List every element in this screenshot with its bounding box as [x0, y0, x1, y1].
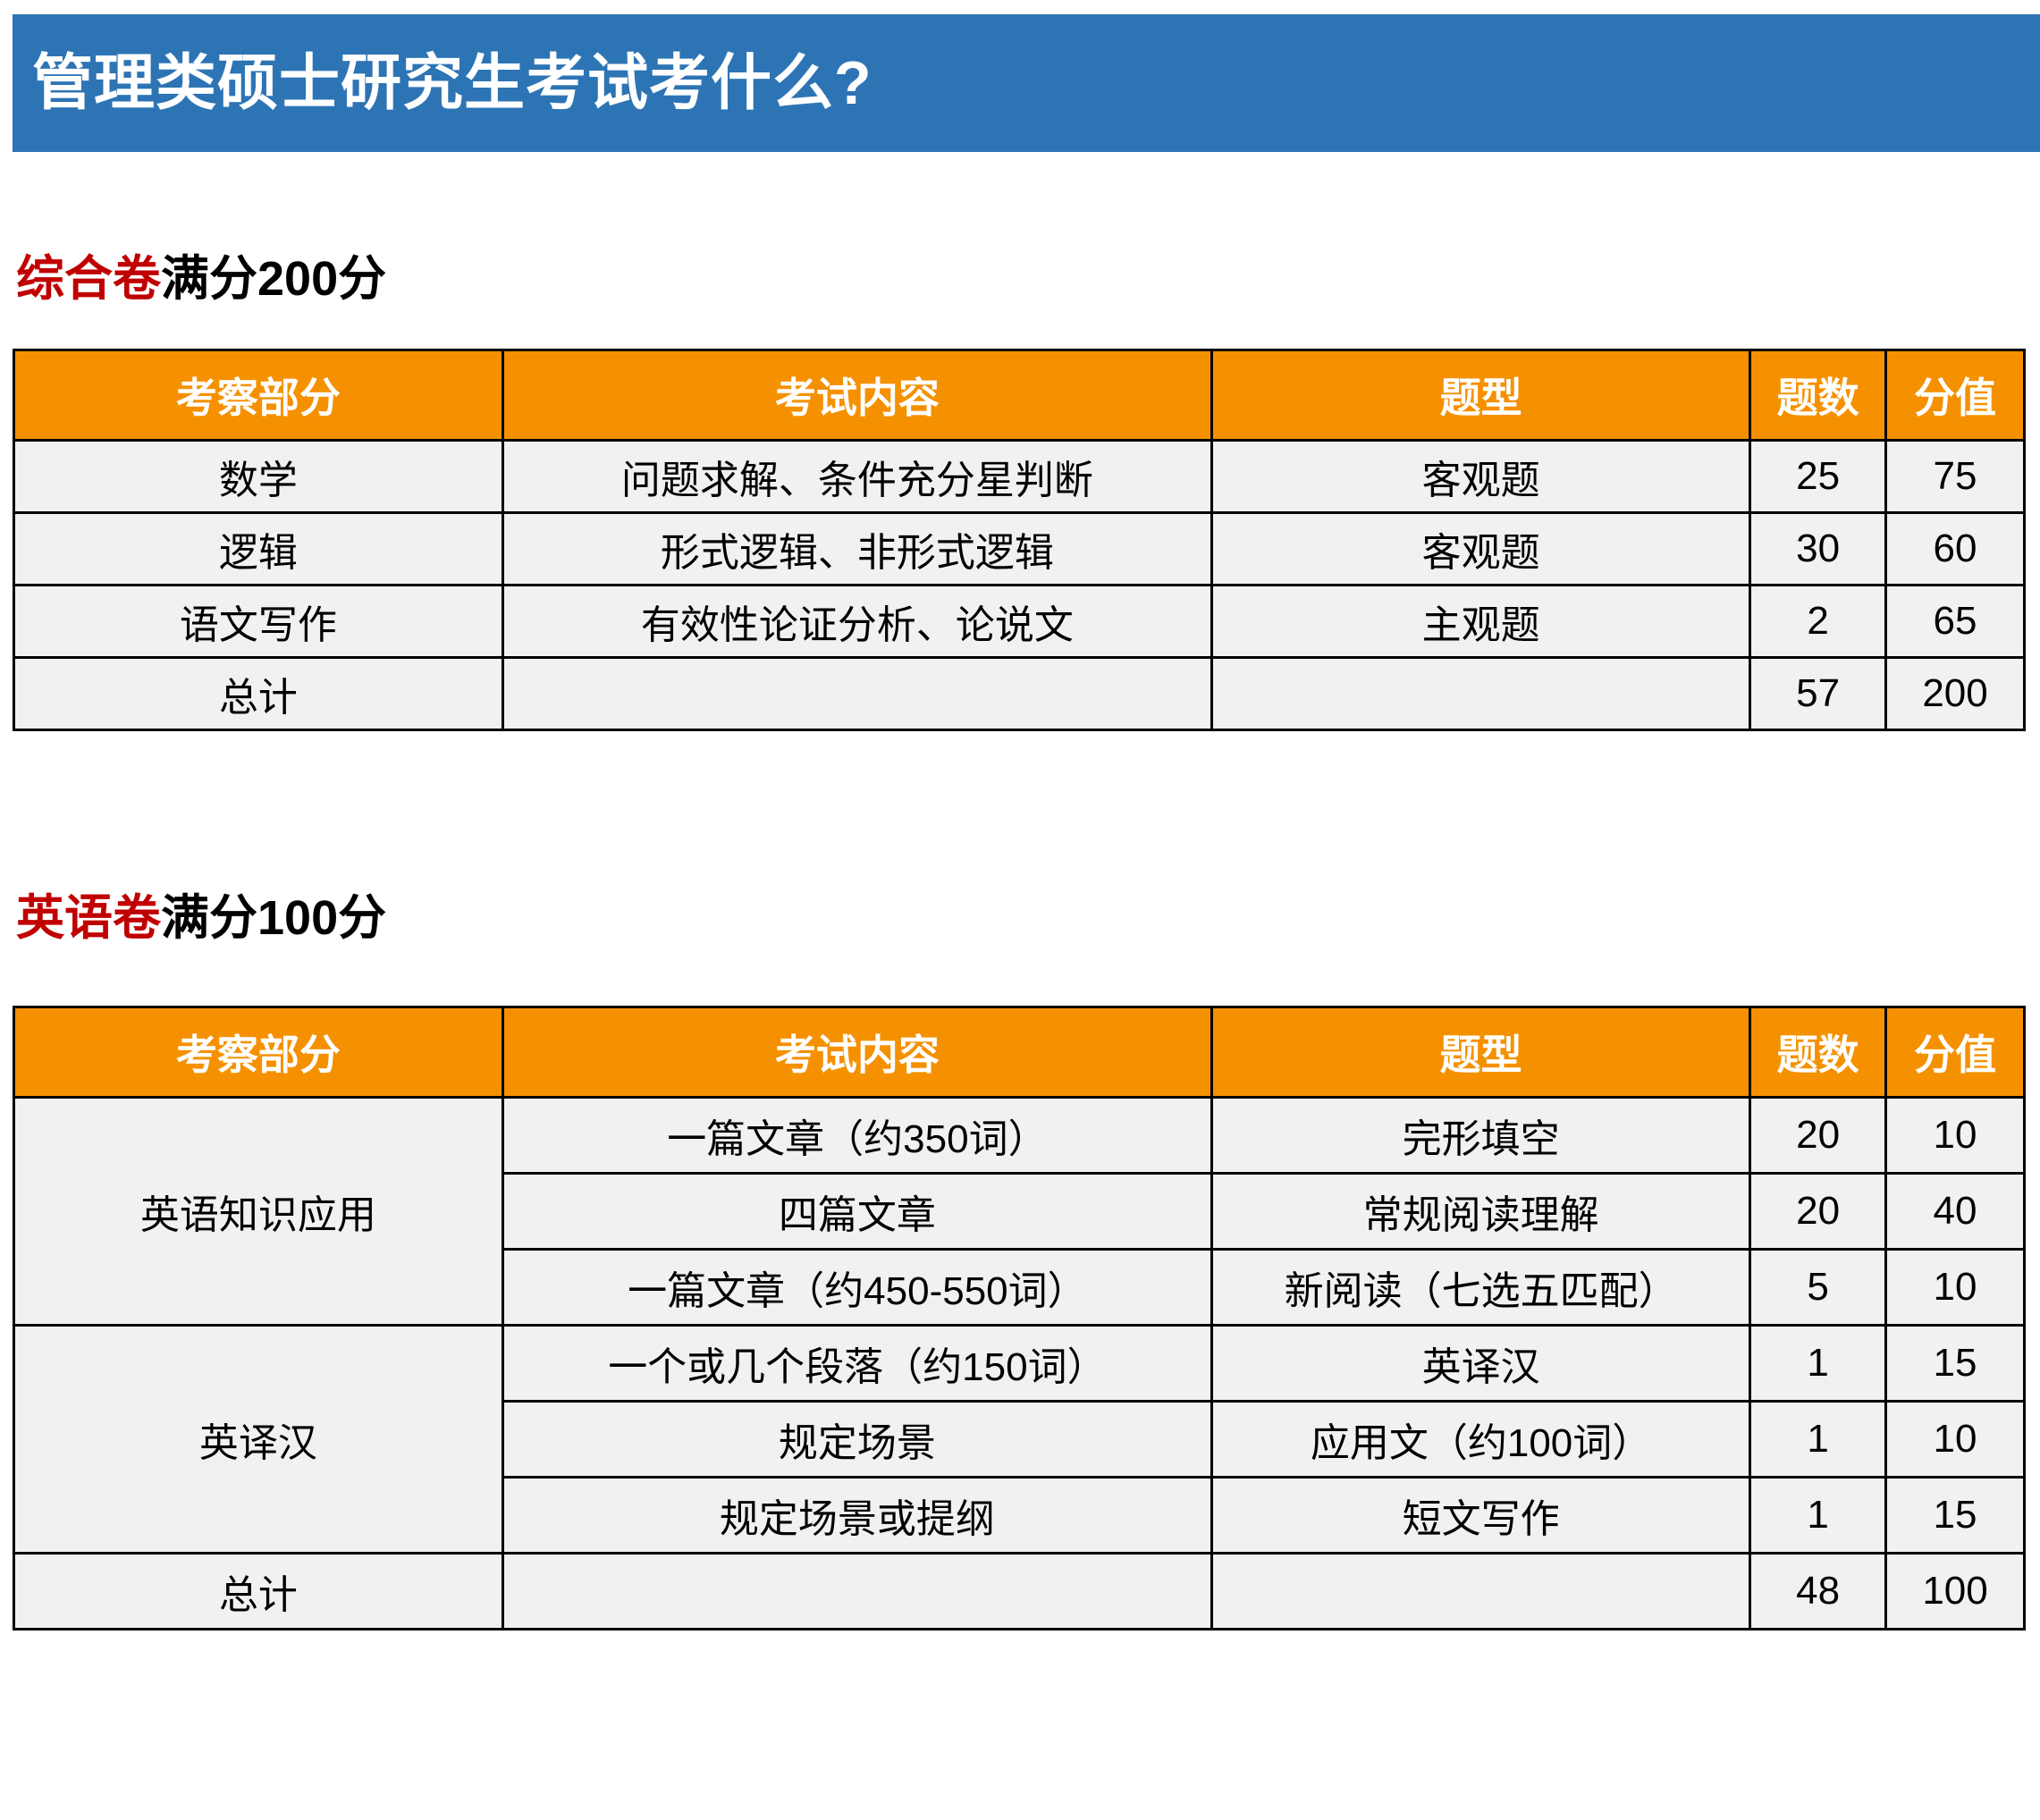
column-header-part: 考察部分 [14, 350, 503, 441]
slide-page: 管理类硕士研究生考试考什么? 综合卷满分200分 考察部分 考试内容 题型 题数… [0, 0, 2040, 1820]
cell-count: 2 [1750, 586, 1886, 658]
cell-content: 有效性论证分析、论说文 [502, 586, 1211, 658]
cell-part: 总计 [14, 658, 503, 730]
cell-content: 问题求解、条件充分星判断 [502, 441, 1211, 513]
cell-count: 20 [1750, 1098, 1886, 1174]
column-header-type: 题型 [1211, 350, 1749, 441]
cell-part: 数学 [14, 441, 503, 513]
section-heading-rest: 满分100分 [161, 891, 386, 945]
cell-type: 主观题 [1211, 586, 1749, 658]
cell-content: 一篇文章（约350词） [502, 1098, 1211, 1174]
section-heading-highlight: 综合卷 [16, 252, 161, 306]
cell-count: 5 [1750, 1250, 1886, 1326]
column-header-content: 考试内容 [502, 1007, 1211, 1098]
cell-count: 25 [1750, 441, 1886, 513]
cell-count: 1 [1750, 1326, 1886, 1402]
cell-count: 1 [1750, 1402, 1886, 1478]
cell-count: 1 [1750, 1478, 1886, 1554]
column-header-content: 考试内容 [502, 350, 1211, 441]
column-header-score: 分值 [1886, 1007, 2025, 1098]
table-row: 英译汉 一个或几个段落（约150词） 英译汉 1 15 [14, 1326, 2025, 1402]
column-header-count: 题数 [1750, 350, 1886, 441]
cell-content [502, 1554, 1211, 1630]
cell-part: 语文写作 [14, 586, 503, 658]
table-header-row: 考察部分 考试内容 题型 题数 分值 [14, 350, 2025, 441]
cell-content: 规定场景 [502, 1402, 1211, 1478]
cell-part-group: 英译汉 [14, 1326, 503, 1554]
page-title: 管理类硕士研究生考试考什么? [13, 53, 872, 114]
column-header-score: 分值 [1886, 350, 2025, 441]
cell-score: 15 [1886, 1326, 2025, 1402]
table-row: 语文写作 有效性论证分析、论说文 主观题 2 65 [14, 586, 2025, 658]
cell-content: 一个或几个段落（约150词） [502, 1326, 1211, 1402]
cell-content [502, 658, 1211, 730]
section-heading-rest: 满分200分 [161, 252, 386, 306]
cell-type: 应用文（约100词） [1211, 1402, 1749, 1478]
table-total-row: 总计 48 100 [14, 1554, 2025, 1630]
cell-score: 100 [1886, 1554, 2025, 1630]
cell-part-group: 英语知识应用 [14, 1098, 503, 1326]
section-heading-comprehensive: 综合卷满分200分 [16, 255, 386, 303]
cell-part: 总计 [14, 1554, 503, 1630]
table-header-row: 考察部分 考试内容 题型 题数 分值 [14, 1007, 2025, 1098]
cell-type: 短文写作 [1211, 1478, 1749, 1554]
comprehensive-exam-table: 考察部分 考试内容 题型 题数 分值 数学 问题求解、条件充分星判断 客观题 2… [13, 349, 2026, 731]
cell-content: 四篇文章 [502, 1174, 1211, 1250]
cell-type [1211, 1554, 1749, 1630]
cell-score: 40 [1886, 1174, 2025, 1250]
section-heading-highlight: 英语卷 [16, 891, 161, 945]
cell-score: 200 [1886, 658, 2025, 730]
table-total-row: 总计 57 200 [14, 658, 2025, 730]
cell-type: 英译汉 [1211, 1326, 1749, 1402]
cell-part: 逻辑 [14, 513, 503, 586]
column-header-type: 题型 [1211, 1007, 1749, 1098]
cell-type: 完形填空 [1211, 1098, 1749, 1174]
column-header-part: 考察部分 [14, 1007, 503, 1098]
cell-content: 形式逻辑、非形式逻辑 [502, 513, 1211, 586]
table-row: 数学 问题求解、条件充分星判断 客观题 25 75 [14, 441, 2025, 513]
cell-type: 新阅读（七选五匹配） [1211, 1250, 1749, 1326]
cell-count: 30 [1750, 513, 1886, 586]
english-exam-table: 考察部分 考试内容 题型 题数 分值 英语知识应用 一篇文章（约350词） 完形… [13, 1006, 2026, 1630]
column-header-count: 题数 [1750, 1007, 1886, 1098]
cell-content: 一篇文章（约450-550词） [502, 1250, 1211, 1326]
cell-score: 60 [1886, 513, 2025, 586]
cell-type: 客观题 [1211, 513, 1749, 586]
table-row: 逻辑 形式逻辑、非形式逻辑 客观题 30 60 [14, 513, 2025, 586]
cell-content: 规定场景或提纲 [502, 1478, 1211, 1554]
cell-type [1211, 658, 1749, 730]
cell-type: 常规阅读理解 [1211, 1174, 1749, 1250]
cell-score: 10 [1886, 1250, 2025, 1326]
cell-score: 15 [1886, 1478, 2025, 1554]
table-row: 英语知识应用 一篇文章（约350词） 完形填空 20 10 [14, 1098, 2025, 1174]
cell-score: 75 [1886, 441, 2025, 513]
title-banner: 管理类硕士研究生考试考什么? [13, 14, 2040, 152]
cell-score: 10 [1886, 1098, 2025, 1174]
cell-score: 65 [1886, 586, 2025, 658]
cell-count: 57 [1750, 658, 1886, 730]
section-heading-english: 英语卷满分100分 [16, 894, 386, 942]
cell-count: 48 [1750, 1554, 1886, 1630]
cell-score: 10 [1886, 1402, 2025, 1478]
cell-count: 20 [1750, 1174, 1886, 1250]
cell-type: 客观题 [1211, 441, 1749, 513]
